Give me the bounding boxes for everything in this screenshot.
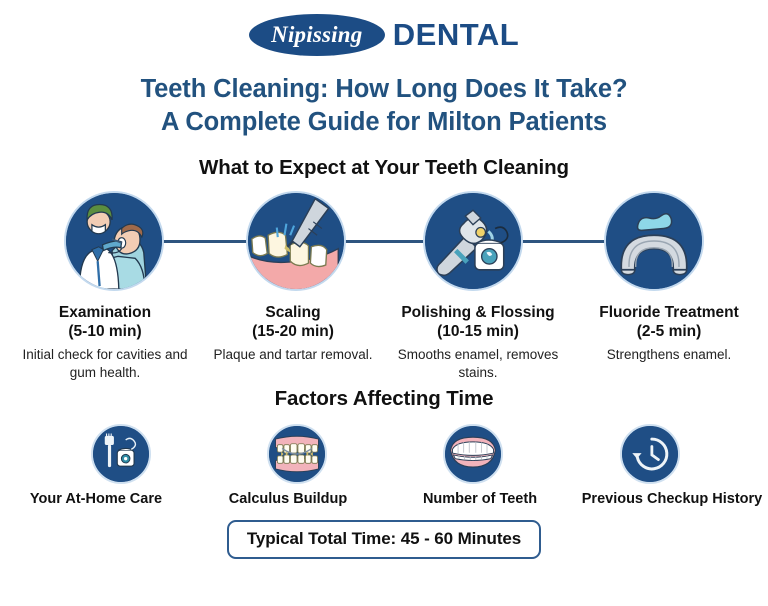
step-title-2: Scaling bbox=[206, 304, 380, 323]
connector-1 bbox=[158, 240, 254, 243]
polishing-handpiece-and-floss-icon bbox=[425, 193, 521, 289]
step-icon-scaling-tool-on-teeth-icon bbox=[246, 191, 346, 291]
step-desc-4: Strengthens enamel. bbox=[576, 346, 762, 363]
factor-icon-full-teeth-set-icon bbox=[443, 424, 503, 484]
logo-dental-word: DENTAL bbox=[393, 17, 519, 53]
scaling-tool-on-teeth-icon bbox=[248, 193, 344, 289]
fluoride-tray-icon bbox=[606, 193, 702, 289]
total-time-badge: Typical Total Time: 45 - 60 Minutes bbox=[227, 520, 541, 559]
step-label-3: Polishing & Flossing (10-15 min) Smooths… bbox=[382, 304, 574, 381]
factors-row bbox=[0, 421, 768, 483]
steps-row bbox=[0, 188, 768, 296]
step-label-2: Scaling (15-20 min) Plaque and tartar re… bbox=[204, 304, 382, 381]
factor-icon-toothbrush-and-floss-icon bbox=[91, 424, 151, 484]
total-time-badge-wrap: Typical Total Time: 45 - 60 Minutes bbox=[0, 520, 768, 559]
step-icon-fluoride-tray-icon bbox=[604, 191, 704, 291]
factor-icon-clock-history-icon bbox=[620, 424, 680, 484]
step-icon-dentist-examining-patient-icon bbox=[64, 191, 164, 291]
step-title-3: Polishing & Flossing bbox=[384, 304, 572, 323]
step-labels-row: Examination (5-10 min) Initial check for… bbox=[0, 304, 768, 381]
teeth-with-calculus-icon bbox=[269, 426, 325, 482]
step-time-3: (10-15 min) bbox=[384, 323, 572, 342]
step-desc-3: Smooths enamel, removes stains. bbox=[384, 346, 572, 381]
full-teeth-set-icon bbox=[445, 426, 501, 482]
factor-icon-teeth-with-calculus-icon bbox=[267, 424, 327, 484]
logo-oval-label: Nipissing bbox=[271, 22, 362, 48]
page-title-line-2: A Complete Guide for Milton Patients bbox=[0, 106, 768, 139]
connector-3 bbox=[518, 240, 610, 243]
factors-section-heading: Factors Affecting Time bbox=[0, 387, 768, 411]
expect-section-heading: What to Expect at Your Teeth Cleaning bbox=[0, 156, 768, 180]
page-title-line-1: Teeth Cleaning: How Long Does It Take? bbox=[0, 73, 768, 106]
factor-label-2: Calculus Buildup bbox=[192, 491, 384, 509]
step-title-4: Fluoride Treatment bbox=[576, 304, 762, 323]
step-desc-1: Initial check for cavities and gum healt… bbox=[8, 346, 202, 381]
brand-logo: Nipissing DENTAL bbox=[0, 0, 768, 56]
factor-label-4: Previous Checkup History bbox=[576, 491, 768, 509]
step-time-4: (2-5 min) bbox=[576, 323, 762, 342]
step-time-1: (5-10 min) bbox=[8, 323, 202, 342]
step-desc-2: Plaque and tartar removal. bbox=[206, 346, 380, 363]
step-label-4: Fluoride Treatment (2-5 min) Strengthens… bbox=[574, 304, 764, 381]
factor-labels-row: Your At-Home Care Calculus Buildup Numbe… bbox=[0, 491, 768, 509]
page-title: Teeth Cleaning: How Long Does It Take? A… bbox=[0, 73, 768, 138]
logo-oval-badge: Nipissing bbox=[249, 14, 385, 56]
step-title-1: Examination bbox=[8, 304, 202, 323]
dentist-examining-patient-icon bbox=[66, 193, 162, 289]
factor-label-3: Number of Teeth bbox=[384, 491, 576, 509]
step-time-2: (15-20 min) bbox=[206, 323, 380, 342]
step-label-1: Examination (5-10 min) Initial check for… bbox=[6, 304, 204, 381]
toothbrush-and-floss-icon bbox=[93, 426, 149, 482]
factor-label-1: Your At-Home Care bbox=[0, 491, 192, 509]
step-icon-polishing-handpiece-and-floss-icon bbox=[423, 191, 523, 291]
connector-2 bbox=[340, 240, 430, 243]
clock-history-icon bbox=[622, 426, 678, 482]
